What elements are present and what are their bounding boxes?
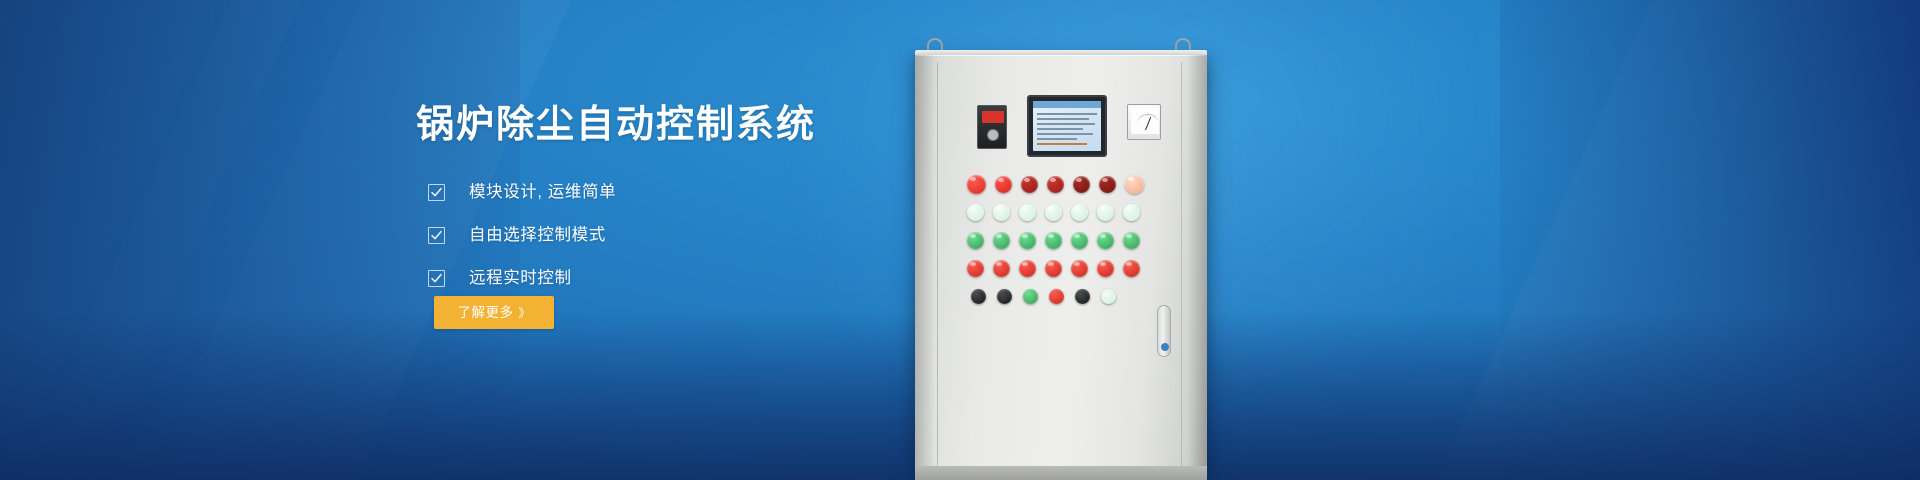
indicator-lamp [1097,204,1114,221]
gauge-face [1131,108,1159,134]
checkbox-check-icon [428,227,445,244]
indicator-lamp [995,176,1012,193]
cabinet-left-edge [915,55,935,480]
push-button [1023,289,1038,304]
push-button [997,289,1012,304]
table-row [967,170,1147,198]
indicator-lamp-grid [967,170,1147,310]
hero-banner: 锅炉除尘自动控制系统 模块设计, 运维简单 自由选择控制模式 [0,0,1920,480]
indicator-lamp [1123,260,1140,277]
indicator-lamp [1073,176,1090,193]
push-button [1101,289,1116,304]
indicator-lamp [993,204,1010,221]
indicator-lamp [1019,232,1036,249]
indicator-lamp [1123,204,1140,221]
indicator-lamp [1125,175,1144,194]
push-button [1075,289,1090,304]
table-row [967,198,1147,226]
product-image-control-cabinet [905,0,1465,480]
indicator-lamp [1071,204,1088,221]
indicator-lamp [1019,204,1036,221]
checkbox-check-icon [428,270,445,287]
banner-copy: 锅炉除尘自动控制系统 模块设计, 运维简单 自由选择控制模式 [416,0,976,480]
push-button [971,289,986,304]
indicator-lamp [967,260,984,277]
table-row [967,226,1147,254]
hmi-touchscreen [1027,95,1107,157]
indicator-lamp [1097,232,1114,249]
indicator-lamp [993,260,1010,277]
analog-gauge [1127,104,1161,140]
feature-list: 模块设计, 运维简单 自由选择控制模式 远程实时控制 [428,176,616,295]
list-item: 自由选择控制模式 [428,219,616,252]
learn-more-button[interactable]: 了解更多 》 [434,296,554,329]
indicator-lamp [1021,176,1038,193]
lock-icon [1161,343,1169,351]
cabinet-door-seam-left [937,62,938,474]
indicator-lamp [967,175,986,194]
cabinet-plinth [915,466,1207,480]
feature-label: 自由选择控制模式 [469,227,606,244]
indicator-lamp [967,232,984,249]
page-title: 锅炉除尘自动控制系统 [416,106,816,144]
learn-more-label: 了解更多 [457,306,513,320]
controller-knob [987,129,999,141]
chevron-right-icon: 》 [518,307,530,319]
indicator-lamp [993,232,1010,249]
cabinet-door-handle [1157,305,1171,357]
controller-display [982,111,1004,123]
table-row [967,254,1147,282]
indicator-lamp [1099,176,1116,193]
checkbox-check-icon [428,184,445,201]
push-button [1049,289,1064,304]
indicator-lamp [1047,176,1064,193]
cabinet-right-edge [1187,55,1207,480]
table-row [967,282,1147,310]
indicator-lamp [1097,260,1114,277]
indicator-lamp [967,204,984,221]
indicator-lamp [1071,260,1088,277]
indicator-lamp [1123,232,1140,249]
indicator-lamp [1045,232,1062,249]
cabinet-door-seam-right [1181,62,1182,474]
indicator-lamp [1071,232,1088,249]
hmi-screen [1033,101,1101,151]
feature-label: 远程实时控制 [469,270,572,287]
list-item: 模块设计, 运维简单 [428,176,616,209]
digital-controller [977,105,1007,149]
indicator-lamp [1045,260,1062,277]
feature-label: 模块设计, 运维简单 [469,184,616,201]
list-item: 远程实时控制 [428,262,616,295]
indicator-lamp [1045,204,1062,221]
indicator-lamp [1019,260,1036,277]
